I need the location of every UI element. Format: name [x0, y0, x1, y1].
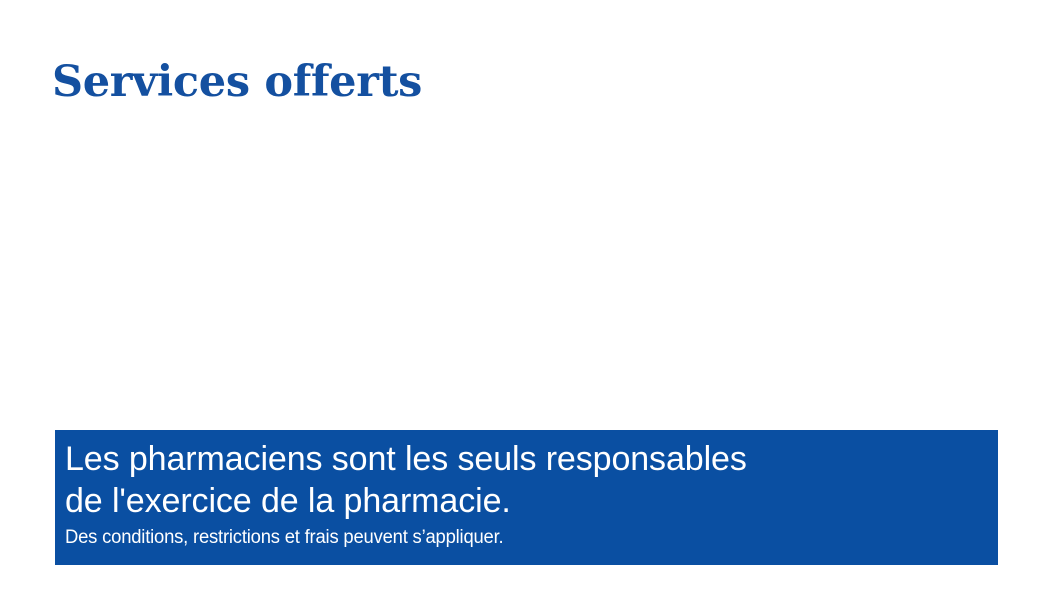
banner-headline-line-1: Les pharmaciens sont les seuls responsab… — [65, 438, 984, 480]
slide-content-area — [55, 135, 998, 425]
slide-canvas: Services offerts Les pharmaciens sont le… — [0, 0, 1050, 600]
banner-headline-line-2: de l'exercice de la pharmacie. — [65, 480, 984, 522]
callout-banner: Les pharmaciens sont les seuls responsab… — [55, 430, 998, 565]
banner-subtitle: Des conditions, restrictions et frais pe… — [65, 526, 956, 550]
page-title: Services offerts — [52, 60, 952, 105]
